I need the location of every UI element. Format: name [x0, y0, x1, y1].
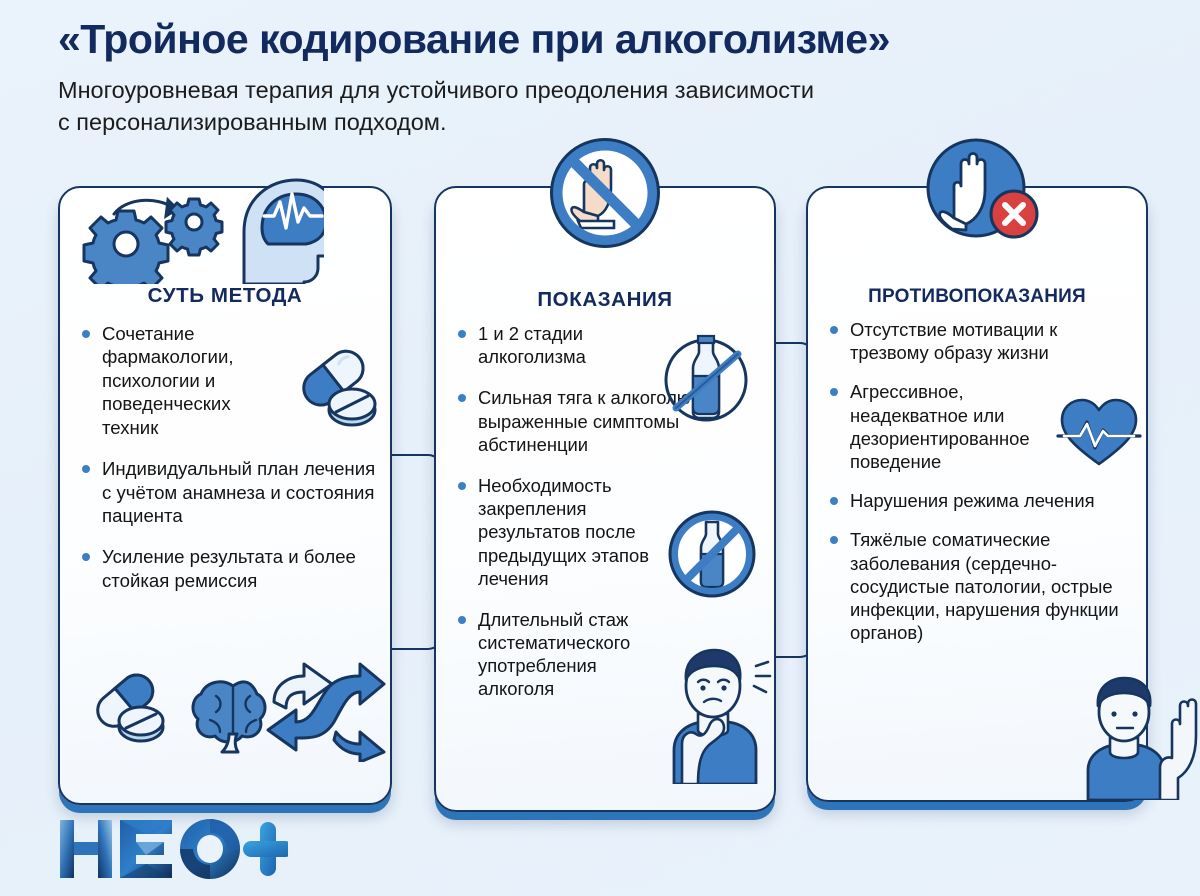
card-contraindications-title: ПРОТИВОПОКАЗАНИЯ [808, 286, 1146, 308]
card-contraindications-bullets: Отсутствие мотивации к трезвому образу ж… [808, 318, 1146, 644]
page-title: «Тройное кодирование при алкоголизме» [58, 18, 1168, 61]
list-item: Тяжёлые соматические заболевания (сердеч… [830, 528, 1132, 644]
shuffle-arrows-icon [256, 658, 386, 767]
card-contraindications[interactable]: ПРОТИВОПОКАЗАНИЯ Отсутствие мотивации к … [806, 186, 1148, 802]
card-indications-title: ПОКАЗАНИЯ [436, 288, 774, 312]
neo-plus-logo[interactable] [58, 816, 288, 891]
header: «Тройное кодирование при алкоголизме» Мн… [58, 18, 1168, 138]
card-method-bullets: Сочетание фармакологии, психологии и пов… [60, 322, 390, 592]
card-method-header [60, 188, 390, 284]
list-item: Агрессивное, неадекватное или дезориенти… [830, 380, 1132, 473]
card-contraindications-header [808, 188, 1146, 284]
gears-head-brain-icon [74, 172, 324, 289]
pills-icon [86, 666, 178, 757]
list-item: Сочетание фармакологии, психологии и пов… [82, 322, 376, 439]
list-item: Отсутствие мотивации к трезвому образу ж… [830, 318, 1132, 364]
card-indications-bullets: 1 и 2 стадии алкоголизма Сильная тяга к … [436, 322, 774, 701]
cards-row: СУТЬ МЕТОДА Сочетание [0, 186, 1200, 811]
list-item: Длительный стаж систематического употреб… [458, 608, 760, 701]
list-item: Усиление результата и более стойкая реми… [82, 545, 376, 592]
card-method[interactable]: СУТЬ МЕТОДА Сочетание [58, 186, 392, 805]
subtitle-line-2: с персонализированным подходом. [58, 109, 446, 135]
list-item: 1 и 2 стадии алкоголизма [458, 322, 760, 368]
card-indications-header [436, 188, 774, 284]
card-method-title: СУТЬ МЕТОДА [60, 284, 390, 308]
stop-hand-prohibition-icon [540, 128, 670, 263]
list-item: Сильная тяга к алкоголю и выраженные сим… [458, 386, 760, 456]
subtitle-line-1: Многоуровневая терапия для устойчивого п… [58, 77, 814, 103]
infographic-page: «Тройное кодирование при алкоголизме» Мн… [0, 0, 1200, 896]
list-item: Индивидуальный план лечения с учётом ана… [82, 457, 376, 527]
page-subtitle: Многоуровневая терапия для устойчивого п… [58, 75, 1148, 138]
hand-stop-red-cross-icon [914, 126, 1048, 257]
card-indications[interactable]: ПОКАЗАНИЯ [434, 186, 776, 812]
list-item: Необходимость закрепления результатов по… [458, 474, 760, 590]
man-raised-hand-icon [1074, 672, 1200, 805]
brain-icon [188, 676, 278, 759]
list-item: Нарушения режима лечения [830, 489, 1132, 512]
